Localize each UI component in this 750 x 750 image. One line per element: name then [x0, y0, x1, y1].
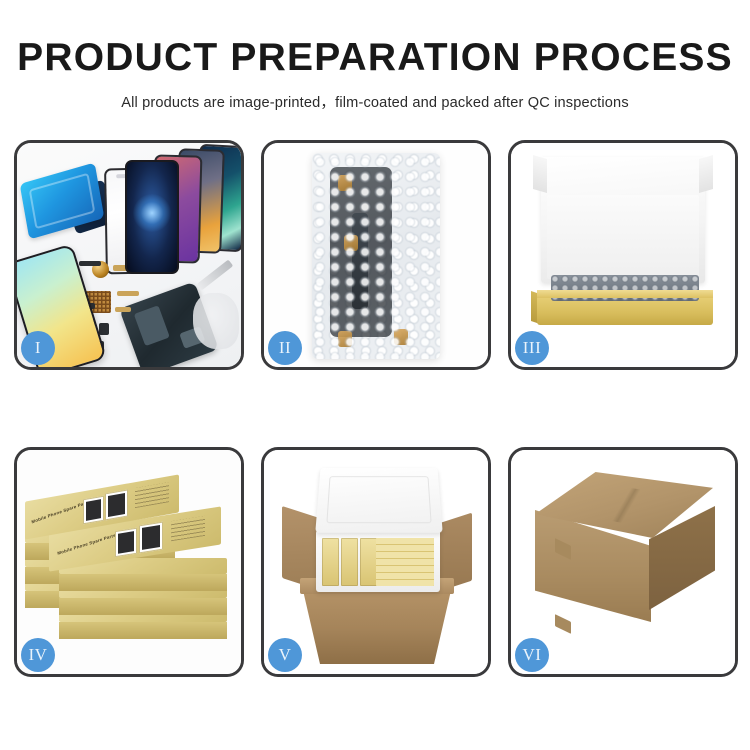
- foam-lid-icon: [315, 468, 442, 533]
- kraft-boxes-flat-stack: [376, 538, 434, 586]
- box-window-icon: [139, 522, 163, 554]
- step-numeral-3: III: [523, 338, 541, 358]
- step-numeral-2: II: [279, 338, 291, 358]
- step-panel-5[interactable]: V: [261, 447, 491, 677]
- step-panel-4[interactable]: Mobile Phone Spare Parts Mobile Phone Sp…: [14, 447, 244, 677]
- kraft-box-item: [322, 538, 339, 586]
- step-image-5: [264, 450, 488, 674]
- step-numeral-4: IV: [29, 645, 48, 665]
- tape-tab-icon: [394, 329, 408, 345]
- step-image-4: Mobile Phone Spare Parts Mobile Phone Sp…: [17, 450, 241, 674]
- kraft-box-lip-icon: [537, 290, 713, 298]
- product-preparation-infographic: PRODUCT PREPARATION PROCESS All products…: [0, 0, 750, 750]
- step-numeral-1: I: [35, 338, 41, 358]
- tape-tab-icon: [338, 331, 352, 347]
- step-panel-3[interactable]: III: [508, 140, 738, 370]
- step-panel-2[interactable]: II: [261, 140, 491, 370]
- tape-tab-icon: [344, 235, 358, 251]
- tweezers-icon: [197, 260, 233, 291]
- step-badge-3: III: [515, 331, 549, 365]
- kraft-box-item: [360, 538, 377, 586]
- box-window-icon: [105, 489, 128, 520]
- lcd-screen-icon: [125, 160, 179, 274]
- tape-strip-icon: [555, 614, 571, 634]
- step-badge-5: V: [268, 638, 302, 672]
- step-badge-1: I: [21, 331, 55, 365]
- page-header: PRODUCT PREPARATION PROCESS All products…: [0, 0, 750, 112]
- step-panel-6[interactable]: VI: [508, 447, 738, 677]
- box-window-icon: [115, 528, 137, 557]
- step-badge-2: II: [268, 331, 302, 365]
- step-numeral-6: VI: [523, 645, 542, 665]
- box-stack: Mobile Phone Spare Parts Mobile Phone Sp…: [25, 480, 235, 650]
- tape-tab-icon: [338, 175, 352, 191]
- kraft-box-item: [341, 538, 358, 586]
- process-steps-grid: I II: [14, 140, 738, 677]
- foam-sheet-icon: [547, 195, 699, 279]
- step-panel-1[interactable]: I: [14, 140, 244, 370]
- page-title: PRODUCT PREPARATION PROCESS: [0, 38, 750, 79]
- technician-hand-icon: [193, 293, 239, 349]
- step-image-1: [17, 143, 241, 367]
- carton-body-icon: [302, 586, 452, 664]
- step-numeral-5: V: [279, 645, 292, 665]
- chip-icon: [79, 261, 101, 266]
- page-subtitle: All products are image-printed，film-coat…: [0, 91, 750, 112]
- step-badge-4: IV: [21, 638, 55, 672]
- flex-cable-icon: [115, 307, 131, 312]
- step-image-6: [511, 450, 735, 674]
- box-window-icon: [83, 496, 104, 525]
- flex-cable-icon: [352, 213, 368, 309]
- step-image-3: [511, 143, 735, 367]
- step-badge-6: VI: [515, 638, 549, 672]
- flex-cable-icon: [117, 291, 139, 296]
- step-image-2: [264, 143, 488, 367]
- chip-icon: [99, 323, 109, 335]
